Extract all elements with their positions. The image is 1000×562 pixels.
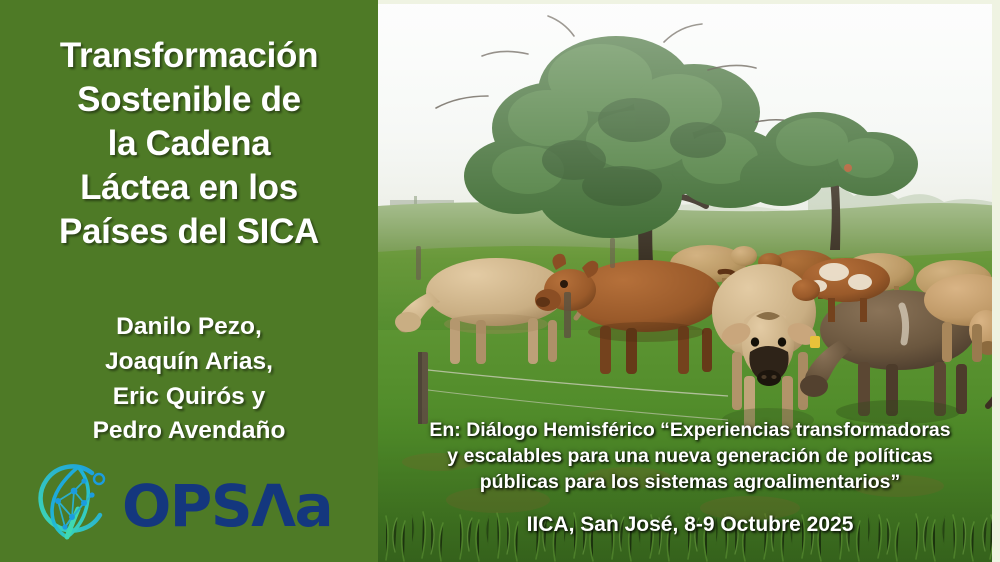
author-line-1: Danilo Pezo,: [6, 310, 372, 345]
title-line-2: Sostenible de: [6, 78, 372, 122]
presentation-slide: En: Diálogo Hemisférico “Experiencias tr…: [0, 0, 1000, 562]
title-line-5: Países del SICA: [6, 210, 372, 254]
title-line-4: Láctea en los: [6, 166, 372, 210]
page-title: Transformación Sostenible de la Cadena L…: [6, 34, 372, 254]
photo-caption: En: Diálogo Hemisférico “Experiencias tr…: [384, 418, 996, 496]
opsaa-logo: OPSΛa: [34, 458, 324, 554]
author-list: Danilo Pezo, Joaquín Arias, Eric Quirós …: [6, 310, 372, 449]
author-line-2: Joaquín Arias,: [6, 345, 372, 380]
opsaa-wordmark: OPSΛa: [122, 477, 332, 535]
title-panel: Transformación Sostenible de la Cadena L…: [0, 0, 378, 562]
title-line-3: la Cadena: [6, 122, 372, 166]
caption-line-1: En: Diálogo Hemisférico “Experiencias tr…: [384, 418, 996, 444]
title-line-1: Transformación: [6, 34, 372, 78]
author-line-4: Pedro Avendaño: [6, 414, 372, 449]
caption-line-2: y escalables para una nueva generación d…: [384, 444, 996, 470]
event-venue-date: IICA, San José, 8-9 Octubre 2025: [384, 513, 996, 537]
pasture-cattle-photo: En: Diálogo Hemisférico “Experiencias tr…: [378, 0, 1000, 562]
caption-line-3: públicas para los sistemas agroalimentar…: [384, 470, 996, 496]
author-line-3: Eric Quirós y: [6, 380, 372, 415]
leaf-network-icon: [34, 459, 118, 553]
